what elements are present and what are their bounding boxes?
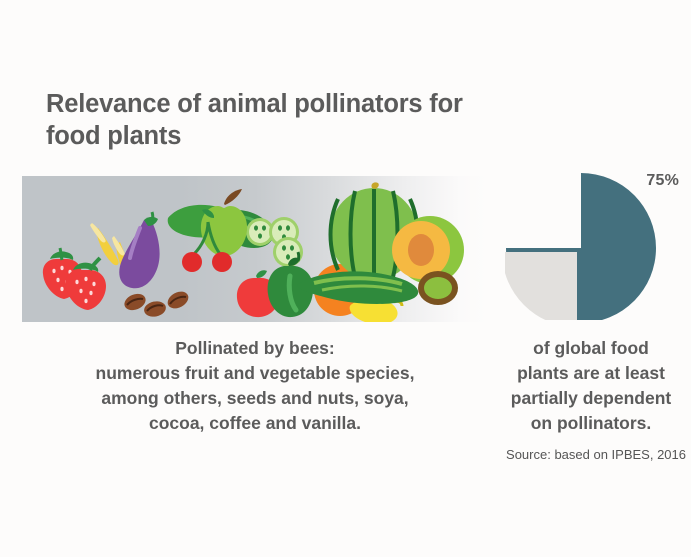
caption-right: of global food plants are at least parti… [496, 336, 686, 435]
coffee-bean-icon [122, 291, 148, 313]
caption-right-line: of global food [496, 336, 686, 361]
pie-value-label: 75% [646, 172, 679, 190]
page-title: Relevance of animal pollinators for food… [46, 88, 486, 152]
fruits-and-vegetables-band [22, 176, 488, 322]
caption-left-line: Pollinated by bees: [22, 336, 488, 361]
caption-right-line: partially dependent [496, 386, 686, 411]
eggplant-icon [119, 212, 159, 288]
source-note: Source: based on IPBES, 2016 [440, 447, 686, 462]
zucchini-icon [297, 271, 418, 304]
infographic-page: Relevance of animal pollinators for food… [0, 0, 691, 557]
caption-right-line: on pollinators. [496, 411, 686, 436]
pollinator-dependency-pie-chart: 75% [505, 170, 685, 320]
caption-left-line: numerous fruit and vegetable species, [22, 361, 488, 386]
caption-left-line: among others, seeds and nuts, soya, [22, 386, 488, 411]
caption-left-line: cocoa, coffee and vanilla. [22, 411, 488, 436]
caption-right-line: plants are at least [496, 361, 686, 386]
pie-slice-not-dependent [505, 252, 577, 320]
kiwi-icon [418, 271, 458, 305]
coffee-bean-icon [165, 288, 191, 312]
caption-left: Pollinated by bees: numerous fruit and v… [22, 336, 488, 435]
coffee-bean-icon [143, 299, 168, 318]
